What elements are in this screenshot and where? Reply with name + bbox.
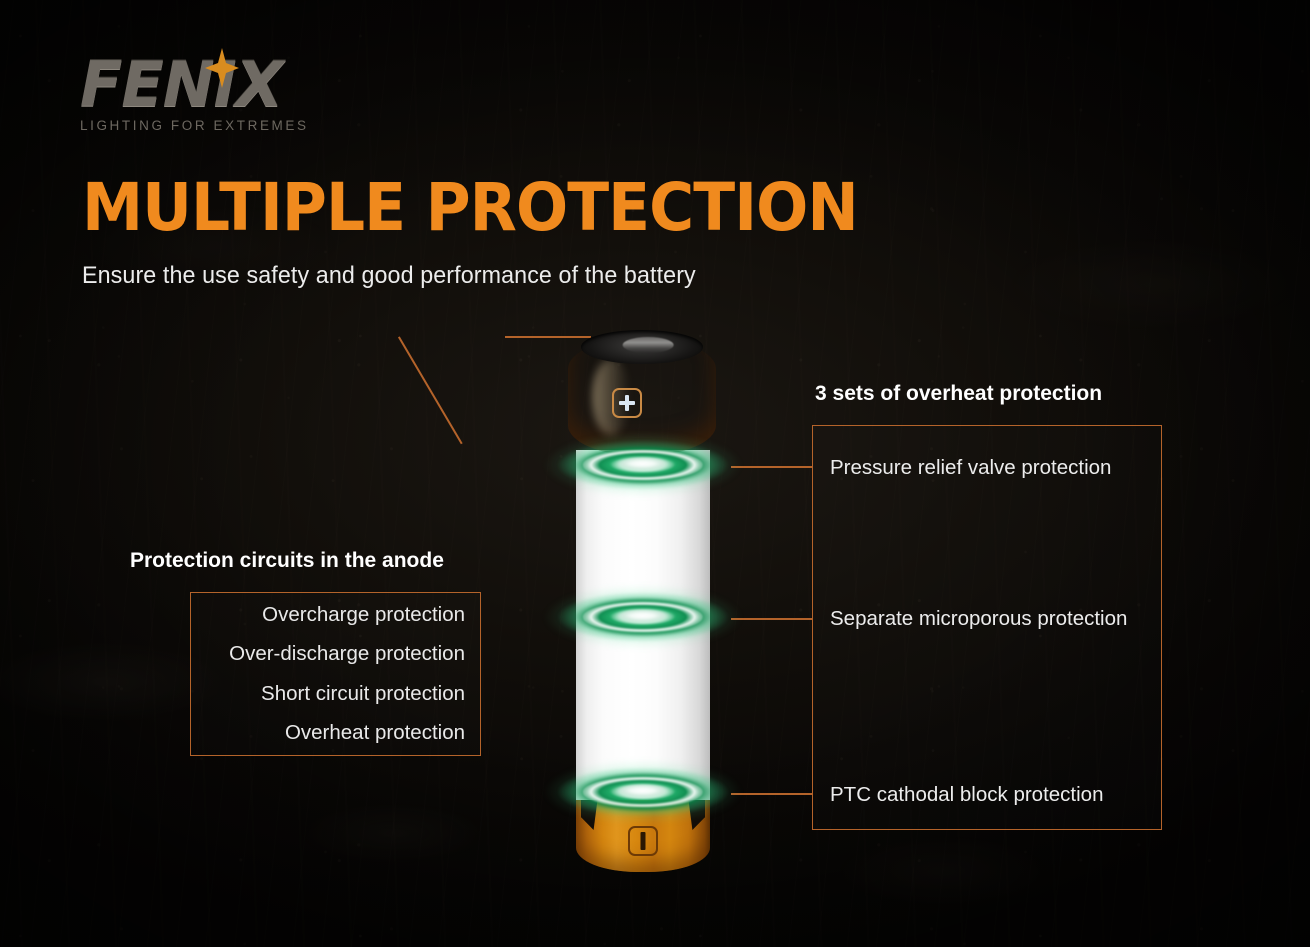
battery-body <box>576 450 710 820</box>
logo-tagline: LIGHTING FOR EXTREMES <box>80 118 410 133</box>
callout-list-overheat: Pressure relief valve protection Separat… <box>812 425 1162 830</box>
infographic-canvas: FENIX LIGHTING FOR EXTREMES MULTIPLE PRO… <box>0 0 1310 947</box>
battery-illustration <box>555 330 730 880</box>
callout-list-anode: Overcharge protection Over-discharge pro… <box>190 592 481 756</box>
battery-top-terminal-face <box>581 330 703 364</box>
list-item: Overcharge protection <box>262 605 465 626</box>
callout-heading-overheat: 3 sets of overheat protection <box>815 382 1102 406</box>
leader-line-microporous <box>731 618 813 620</box>
page-title: MULTIPLE PROTECTION <box>82 175 858 241</box>
list-item: Overheat protection <box>285 723 465 744</box>
star-icon <box>205 48 239 88</box>
list-item: PTC cathodal block protection <box>830 785 1103 806</box>
leader-line-ptc-block <box>731 793 813 795</box>
plus-icon <box>612 388 642 418</box>
list-item: Pressure relief valve protection <box>830 458 1111 479</box>
callout-heading-anode: Protection circuits in the anode <box>130 549 444 573</box>
minus-icon <box>628 826 658 856</box>
list-item: Over-discharge protection <box>229 644 465 665</box>
battery-button-top <box>623 337 674 353</box>
page-subtitle: Ensure the use safety and good performan… <box>82 262 696 290</box>
fenix-logo: FENIX LIGHTING FOR EXTREMES <box>80 54 410 144</box>
leader-line-pressure-valve <box>731 466 813 468</box>
list-item: Separate microporous protection <box>830 609 1127 630</box>
list-item: Short circuit protection <box>261 684 465 705</box>
logo-wordmark: FENIX <box>80 54 410 116</box>
